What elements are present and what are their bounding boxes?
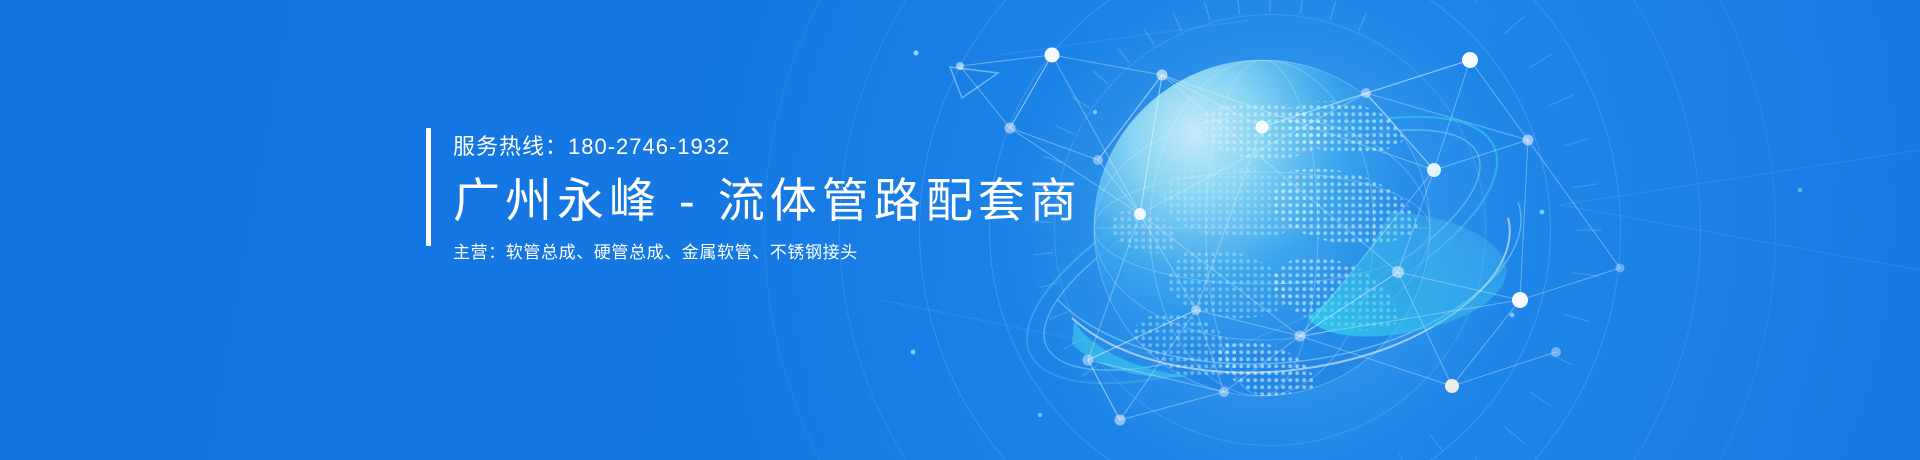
product-subtitle: 主营：软管总成、硬管总成、金属软管、不锈钢接头 [453,244,1082,261]
text-column: 服务热线：180-2746-1932 广州永峰 - 流体管路配套商 主营：软管总… [453,128,1082,261]
hero-banner: 服务热线：180-2746-1932 广州永峰 - 流体管路配套商 主营：软管总… [0,0,1920,460]
banner-text-block: 服务热线：180-2746-1932 广州永峰 - 流体管路配套商 主营：软管总… [426,128,1082,261]
vertical-accent-bar [426,128,431,246]
page-title: 广州永峰 - 流体管路配套商 [453,177,1082,224]
service-hotline: 服务热线：180-2746-1932 [453,136,1082,158]
triangle-marker [950,67,998,98]
